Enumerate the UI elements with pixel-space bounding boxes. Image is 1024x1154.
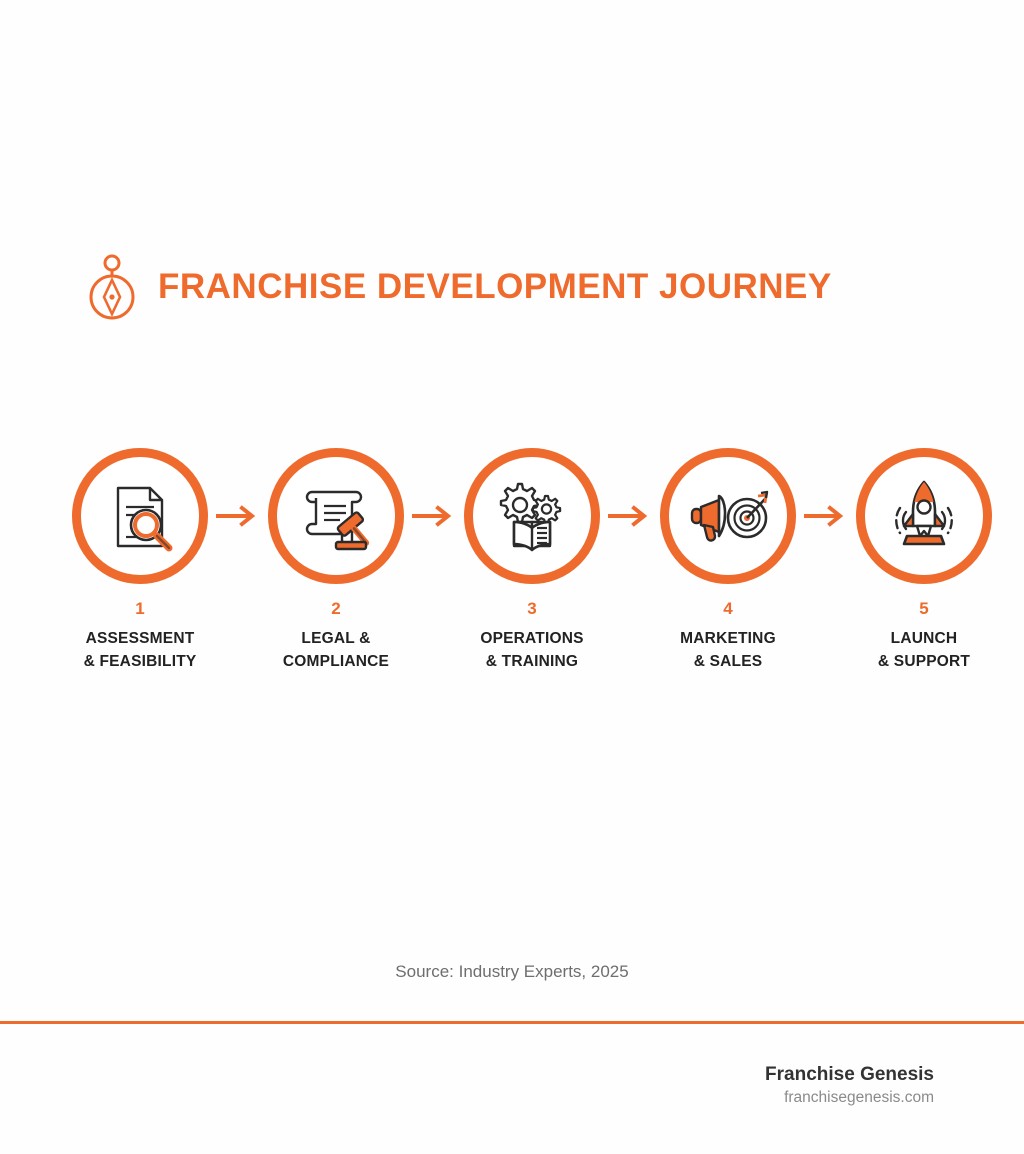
step-number: 4 [723, 600, 732, 619]
source-note: Source: Industry Experts, 2025 [0, 962, 1024, 982]
step-label: LAUNCH & SUPPORT [878, 627, 970, 674]
step-label: MARKETING & SALES [680, 627, 776, 674]
footer-website-url[interactable]: franchisegenesis.com [765, 1088, 934, 1109]
step-label: LEGAL & COMPLIANCE [283, 627, 389, 674]
step-icon-circle [72, 448, 208, 584]
header: FRANCHISE DEVELOPMENT JOURNEY [86, 252, 832, 320]
page-title: FRANCHISE DEVELOPMENT JOURNEY [158, 269, 832, 304]
process-flow: 1 ASSESSMENT & FEASIBILITY [72, 448, 952, 673]
step-number: 5 [919, 600, 928, 619]
step-label-line2: & FEASIBILITY [84, 653, 197, 670]
flow-step-2[interactable]: 2 LEGAL & COMPLIANCE [268, 448, 404, 673]
step-label-line2: & SALES [694, 653, 763, 670]
step-icon-circle [856, 448, 992, 584]
step-label-line2: & SUPPORT [878, 653, 970, 670]
document-magnifier-icon [98, 474, 182, 558]
step-label-line1: OPERATIONS [480, 630, 583, 647]
flow-step-3[interactable]: 3 OPERATIONS & TRAINING [464, 448, 600, 673]
footer-brand-name: Franchise Genesis [765, 1062, 934, 1088]
step-label: OPERATIONS & TRAINING [480, 627, 583, 674]
arrow-right-icon [208, 448, 268, 584]
step-number: 3 [527, 600, 536, 619]
step-label-line2: COMPLIANCE [283, 653, 389, 670]
step-number: 1 [135, 600, 144, 619]
step-icon-circle [660, 448, 796, 584]
megaphone-target-icon [686, 474, 770, 558]
step-label: ASSESSMENT & FEASIBILITY [84, 627, 197, 674]
footer: Franchise Genesis franchisegenesis.com [765, 1062, 934, 1109]
step-label-line1: MARKETING [680, 630, 776, 647]
step-label-line2: & TRAINING [486, 653, 578, 670]
arrow-right-icon [404, 448, 464, 584]
step-label-line1: ASSESSMENT [86, 630, 195, 647]
flow-step-5[interactable]: 5 LAUNCH & SUPPORT [856, 448, 992, 673]
step-icon-circle [268, 448, 404, 584]
arrow-right-icon [796, 448, 856, 584]
flow-step-1[interactable]: 1 ASSESSMENT & FEASIBILITY [72, 448, 208, 673]
step-label-line1: LAUNCH [891, 630, 958, 647]
arrow-right-icon [600, 448, 660, 584]
step-label-line1: LEGAL & [301, 630, 370, 647]
gears-book-icon [490, 474, 574, 558]
scroll-gavel-icon [294, 474, 378, 558]
compass-icon [86, 252, 138, 320]
step-number: 2 [331, 600, 340, 619]
rocket-launch-icon [882, 474, 966, 558]
step-icon-circle [464, 448, 600, 584]
footer-divider [0, 1021, 1024, 1024]
flow-step-4[interactable]: 4 MARKETING & SALES [660, 448, 796, 673]
